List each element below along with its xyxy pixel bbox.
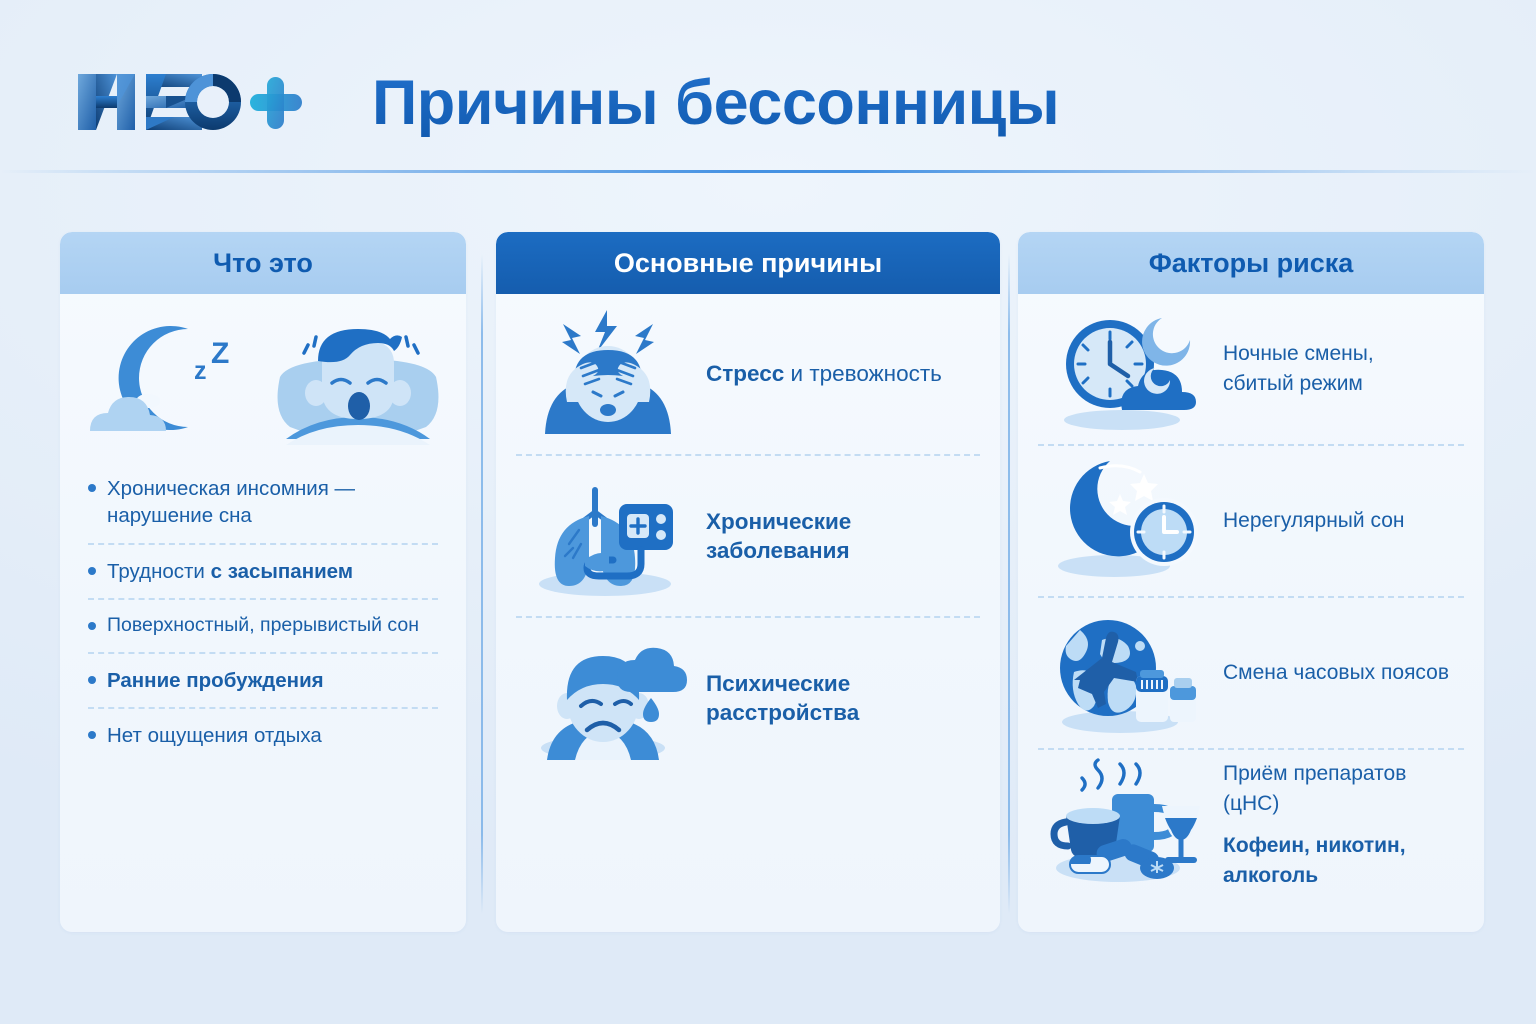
svg-text:z: z: [194, 357, 207, 385]
symptom-list: Хроническая инсомния — нарушение сна Тру…: [60, 454, 466, 762]
list-item-label: Поверхностный, прерывистый сон: [107, 613, 440, 639]
risk-label-line1: Приём препаратов (цНС): [1223, 759, 1462, 819]
card-body-risk-factors: Ночные смены, сбитый режим: [1018, 294, 1484, 900]
bullet-dot: [88, 484, 96, 492]
risk-row[interactable]: Ночные смены, сбитый режим: [1018, 294, 1484, 444]
risk-row[interactable]: Смена часовых поясов: [1018, 598, 1484, 748]
yawning-person-pillow-icon: [264, 305, 450, 455]
globe-plane-pills-icon: [1040, 609, 1215, 737]
cause-label-bold: Стресс: [706, 361, 784, 386]
risk-row[interactable]: Приём препаратов (цНС) Кофеин, никотин, …: [1018, 750, 1484, 900]
cause-label-regular: и тревожность: [784, 361, 942, 386]
page-header: Причины бессонницы: [0, 0, 1536, 172]
list-item[interactable]: Трудности с засыпанием: [86, 545, 440, 598]
card-what-it-is: Что это z Z: [60, 232, 466, 932]
cause-label-bold: Психические расстройства: [706, 671, 859, 725]
header-divider: [0, 170, 1536, 173]
card-main-causes: Основные причины: [496, 232, 1000, 932]
bullet-dot: [88, 676, 96, 684]
cause-row[interactable]: Стресс и тревожность: [496, 294, 1000, 454]
cause-label: Психические расстройства: [706, 669, 978, 728]
cause-label-bold: Хронические заболевания: [706, 509, 851, 563]
risk-label: Нерегулярный сон: [1223, 506, 1462, 536]
cause-label: Стресс и тревожность: [706, 359, 978, 388]
column-divider-1: [481, 254, 483, 914]
list-item[interactable]: Нет ощущения отдыха: [86, 709, 440, 762]
list-item[interactable]: Хроническая инсомния — нарушение сна: [86, 462, 440, 543]
list-item-label: Трудности с засыпанием: [107, 558, 440, 585]
risk-label: Ночные смены, сбитый режим: [1223, 339, 1462, 399]
coffee-wine-pills-icon: [1040, 761, 1215, 889]
risk-label: Приём препаратов (цНС) Кофеин, никотин, …: [1223, 759, 1462, 890]
stressed-head-lightning-icon: [518, 304, 698, 444]
neo-plus-logo: [74, 66, 304, 138]
list-item-label: Ранние пробуждения: [107, 667, 440, 694]
card-header-what-it-is: Что это: [60, 232, 466, 294]
list-item[interactable]: Ранние пробуждения: [86, 654, 440, 707]
risk-label-line1b: сбитый режим: [1223, 369, 1462, 399]
bullet-dot: [88, 567, 96, 575]
cause-row[interactable]: Хронические заболевания: [496, 456, 1000, 616]
sad-face-rain-cloud-icon: [518, 628, 698, 768]
list-item-label-prefix: Трудности: [107, 560, 211, 583]
risk-label-line2: Кофеин, никотин, алкоголь: [1223, 831, 1462, 891]
list-item-label-bold: с засыпанием: [211, 560, 353, 583]
risk-label-line1: Ночные смены,: [1223, 339, 1462, 369]
card-body-what-it-is: z Z: [60, 294, 466, 762]
list-item-label: Нет ощущения отдыха: [107, 722, 440, 749]
risk-label-line1: Нерегулярный сон: [1223, 506, 1462, 536]
bullet-dot: [88, 622, 96, 630]
cause-row[interactable]: Психические расстройства: [496, 618, 1000, 778]
cause-label: Хронические заболевания: [706, 507, 978, 566]
bullet-dot: [88, 731, 96, 739]
clock-moon-night-icon: [1040, 305, 1215, 433]
card-header-main-causes: Основные причины: [496, 232, 1000, 294]
risk-row[interactable]: Нерегулярный сон: [1018, 446, 1484, 596]
list-item-label: Хроническая инсомния — нарушение сна: [107, 475, 440, 530]
lungs-blood-pressure-monitor-icon: [518, 466, 698, 606]
moon-zzz-cloud-icon: z Z: [76, 305, 248, 455]
svg-text:Z: Z: [211, 337, 229, 370]
moon-stars-clock-icon: [1040, 457, 1215, 585]
page-title: Причины бессонницы: [372, 60, 1132, 146]
columns-container: Что это z Z: [0, 232, 1536, 932]
card-body-main-causes: Стресс и тревожность: [496, 294, 1000, 778]
card-header-risk-factors: Факторы риска: [1018, 232, 1484, 294]
risk-label-line1: Смена часовых поясов: [1223, 658, 1462, 688]
list-item[interactable]: Поверхностный, прерывистый сон: [86, 600, 440, 652]
sleep-illustration: z Z: [60, 294, 466, 454]
card-risk-factors: Факторы риска: [1018, 232, 1484, 932]
column-divider-2: [1008, 254, 1010, 914]
risk-label: Смена часовых поясов: [1223, 658, 1462, 688]
